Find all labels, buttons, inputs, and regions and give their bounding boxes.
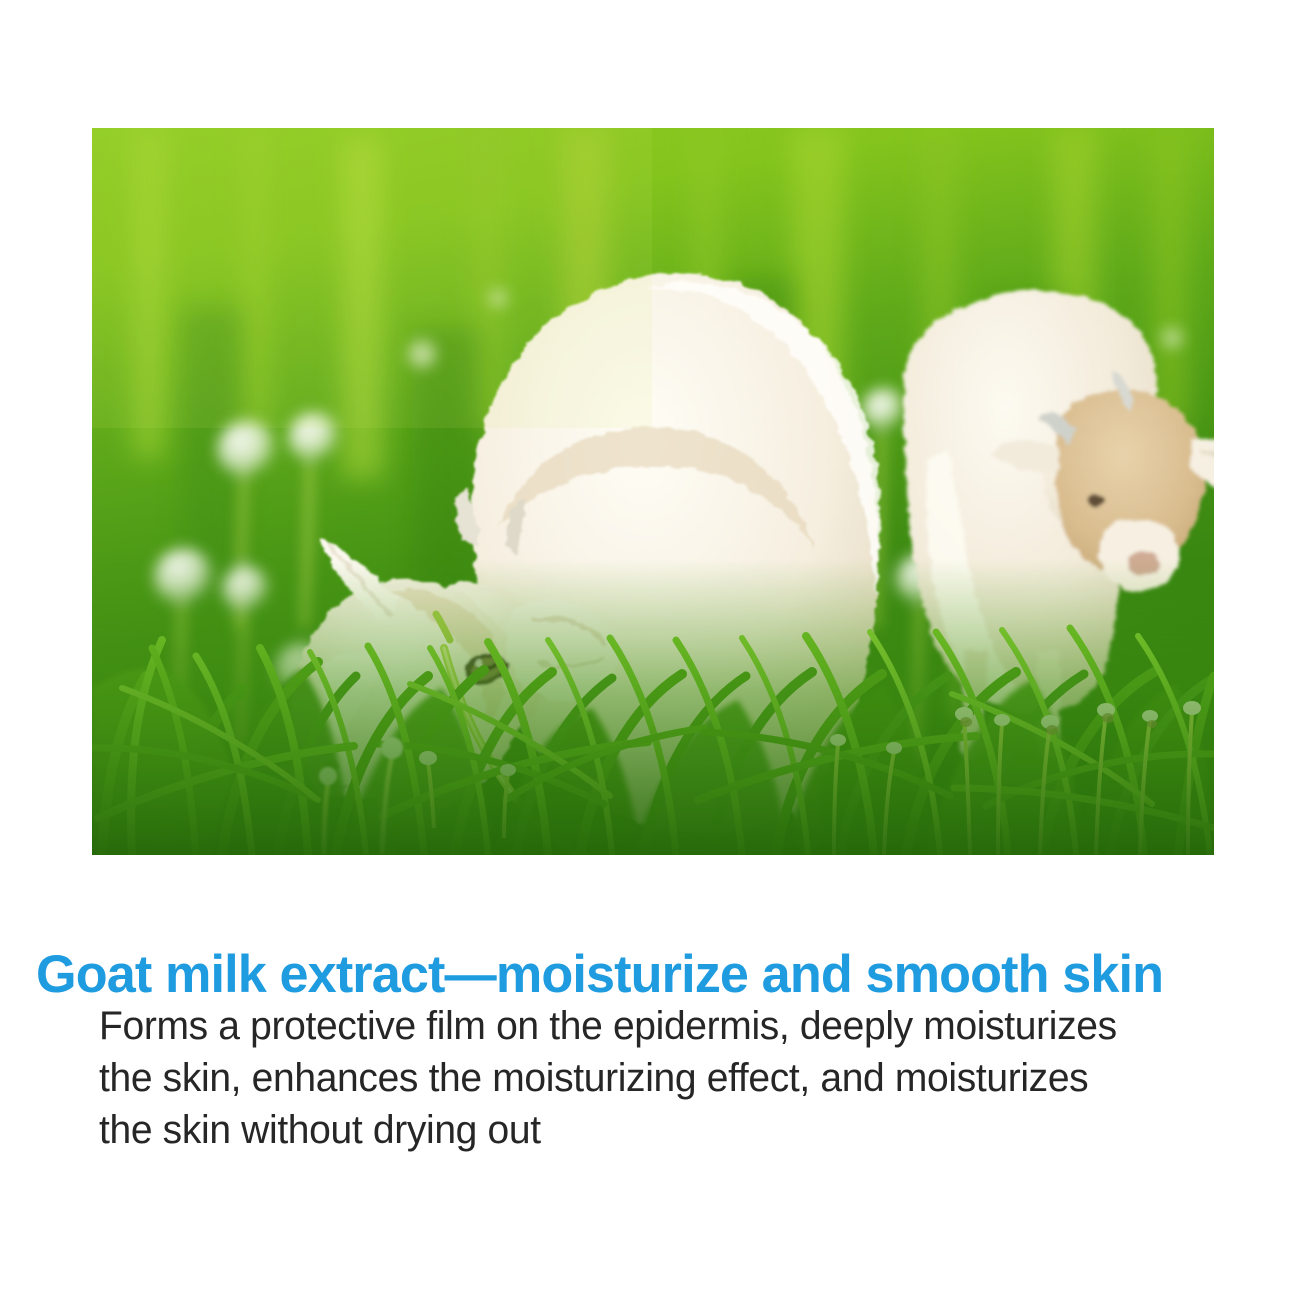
goat-pasture-illustration [92, 128, 1214, 855]
page-title: Goat milk extract—moisturize and smooth … [36, 944, 1257, 1006]
goat-pasture-photo [92, 128, 1214, 855]
description-line-1: Forms a protective film on the epidermis… [99, 1000, 1201, 1052]
product-info-panel: Goat milk extract—moisturize and smooth … [0, 0, 1300, 1300]
description-line-3: the skin without drying out [99, 1104, 1201, 1156]
product-description: Forms a protective film on the epidermis… [99, 1000, 1201, 1156]
description-line-2: the skin, enhances the moisturizing effe… [99, 1052, 1201, 1104]
